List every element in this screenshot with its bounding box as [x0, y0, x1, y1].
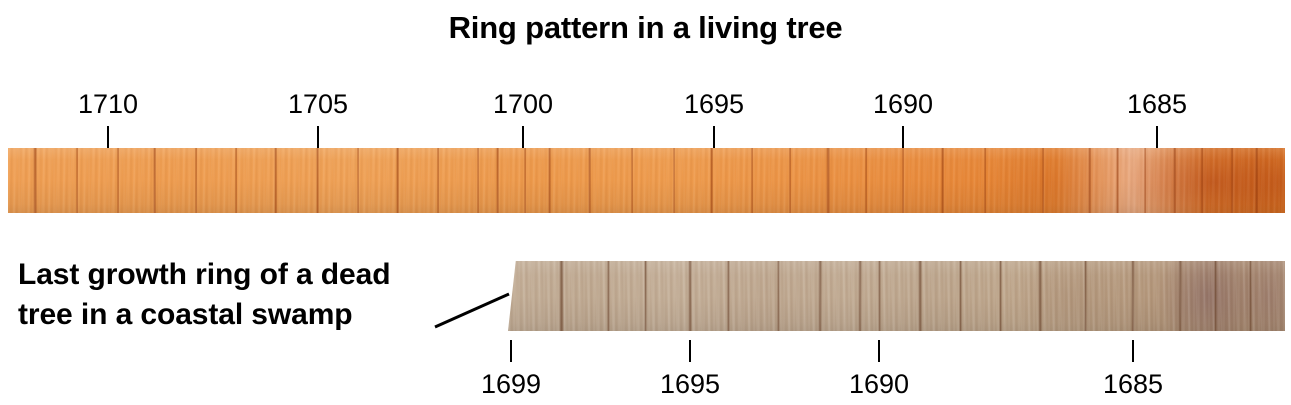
living-tick-1685 [1156, 126, 1158, 148]
living-tick-1695 [713, 126, 715, 148]
page-title: Ring pattern in a living tree [0, 8, 1291, 48]
dead-year-label-1699: 1699 [481, 368, 541, 400]
living-tick-1705 [317, 126, 319, 148]
dead-tree-core-sample [508, 261, 1285, 331]
dead-tick-1685 [1132, 340, 1134, 362]
living-year-label-1690: 1690 [873, 88, 933, 120]
living-tick-1700 [522, 126, 524, 148]
dead-year-label-1685: 1685 [1103, 368, 1163, 400]
living-year-label-1705: 1705 [288, 88, 348, 120]
living-core-fiber-texture [8, 148, 1285, 213]
living-tree-core-sample [8, 148, 1285, 213]
dead-tick-1690 [878, 340, 880, 362]
living-year-label-1710: 1710 [78, 88, 138, 120]
living-year-label-1700: 1700 [493, 88, 553, 120]
annotation-leader-line [425, 285, 520, 340]
living-tick-1710 [107, 126, 109, 148]
living-tick-1690 [902, 126, 904, 148]
dead-core-fiber-texture [508, 261, 1285, 331]
tree-ring-figure: Ring pattern in a living tree 1710170517… [0, 0, 1291, 405]
living-year-label-1685: 1685 [1127, 88, 1187, 120]
dead-tick-1695 [689, 340, 691, 362]
dead-year-label-1690: 1690 [849, 368, 909, 400]
dead-tree-annotation-line-2: tree in a coastal swamp [18, 295, 438, 335]
dead-tree-annotation: Last growth ring of a dead tree in a coa… [18, 255, 438, 335]
living-year-label-1695: 1695 [684, 88, 744, 120]
dead-tree-annotation-line-1: Last growth ring of a dead [18, 258, 390, 291]
dead-tick-1699 [510, 340, 512, 362]
dead-year-label-1695: 1695 [660, 368, 720, 400]
